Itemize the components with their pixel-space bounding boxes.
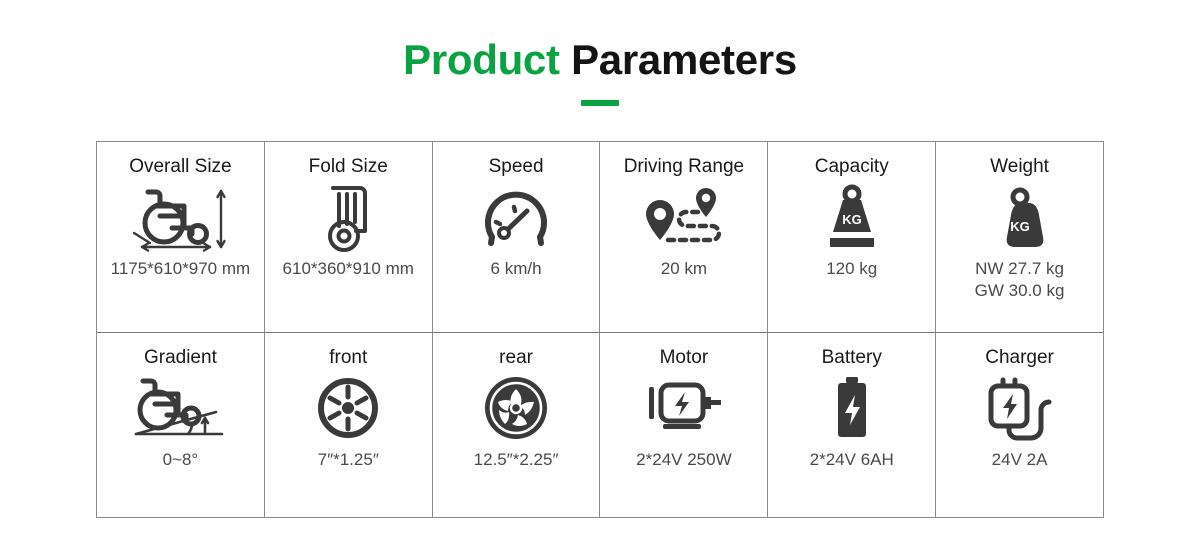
spec-cell-driving-range: Driving Range 20 km [600,142,768,332]
spec-label: Battery [822,347,882,369]
page-title-accent: Product [403,36,560,83]
product-parameters-page: Product Parameters Overall Size [0,0,1200,541]
spec-value: 20 km [661,258,707,280]
spec-value: 6 km/h [491,258,542,280]
wheelchair-dimensions-icon [124,182,236,256]
kg-weight-icon: KG [989,182,1051,256]
speedometer-icon [480,182,552,256]
page-title-plain: Parameters [571,36,797,83]
spec-value: NW 27.7 kg GW 30.0 kg [975,258,1065,303]
spec-cell-overall-size: Overall Size [97,142,265,332]
page-header: Product Parameters [0,0,1200,106]
folded-wheelchair-icon [315,182,381,256]
motor-icon [641,373,727,443]
spec-cell-front-wheel: front [265,333,433,517]
spec-cell-capacity: Capacity KG 120 kg [768,142,936,332]
spec-value: 24V 2A [992,449,1048,471]
spec-value: 7″*1.25″ [318,449,379,471]
spec-label: Overall Size [129,156,231,178]
route-map-pins-icon [638,182,730,256]
spec-label: rear [499,347,533,369]
spec-cell-weight: Weight KG NW 27.7 kg GW 30.0 kg [936,142,1103,332]
spec-value: 12.5″*2.25″ [474,449,559,471]
spec-cell-rear-wheel: rear [433,333,601,517]
alloy-tire-icon [481,373,551,443]
charger-plug-icon [981,373,1059,443]
spec-label: Capacity [815,156,889,178]
kg-weight-platform-icon: KG [821,182,883,256]
spec-label: Gradient [144,347,217,369]
spec-label: Charger [985,347,1054,369]
spec-label: Fold Size [309,156,388,178]
spec-cell-fold-size: Fold Size 610*360*910 mm [265,142,433,332]
spec-cell-motor: Motor 2*24V 250W [600,333,768,517]
title-underline-accent [581,100,619,106]
spec-cell-battery: Battery 2*24V 6AH [768,333,936,517]
spec-label: Driving Range [624,156,744,178]
svg-text:KG: KG [1010,219,1030,234]
spec-cell-charger: Charger 24V 2A [936,333,1103,517]
battery-bolt-icon [830,373,874,443]
spoked-wheel-icon [315,373,381,443]
table-row: Overall Size [97,142,1103,332]
spec-label: front [329,347,367,369]
spec-value-secondary: GW 30.0 kg [975,280,1065,302]
wheelchair-slope-icon [126,373,234,443]
spec-label: Speed [489,156,544,178]
spec-value: 0~8° [163,449,199,471]
spec-label: Motor [660,347,709,369]
spec-cell-gradient: Gradient [97,333,265,517]
page-title: Product Parameters [0,38,1200,82]
spec-cell-speed: Speed [433,142,601,332]
table-row: Gradient [97,332,1103,517]
spec-value: 610*360*910 mm [283,258,414,280]
spec-value: 2*24V 6AH [810,449,894,471]
svg-text:KG: KG [842,212,862,227]
spec-label: Weight [990,156,1049,178]
spec-value: 2*24V 250W [636,449,731,471]
spec-value: 120 kg [826,258,877,280]
spec-table: Overall Size [96,141,1104,518]
spec-value: 1175*610*970 mm [111,258,251,280]
